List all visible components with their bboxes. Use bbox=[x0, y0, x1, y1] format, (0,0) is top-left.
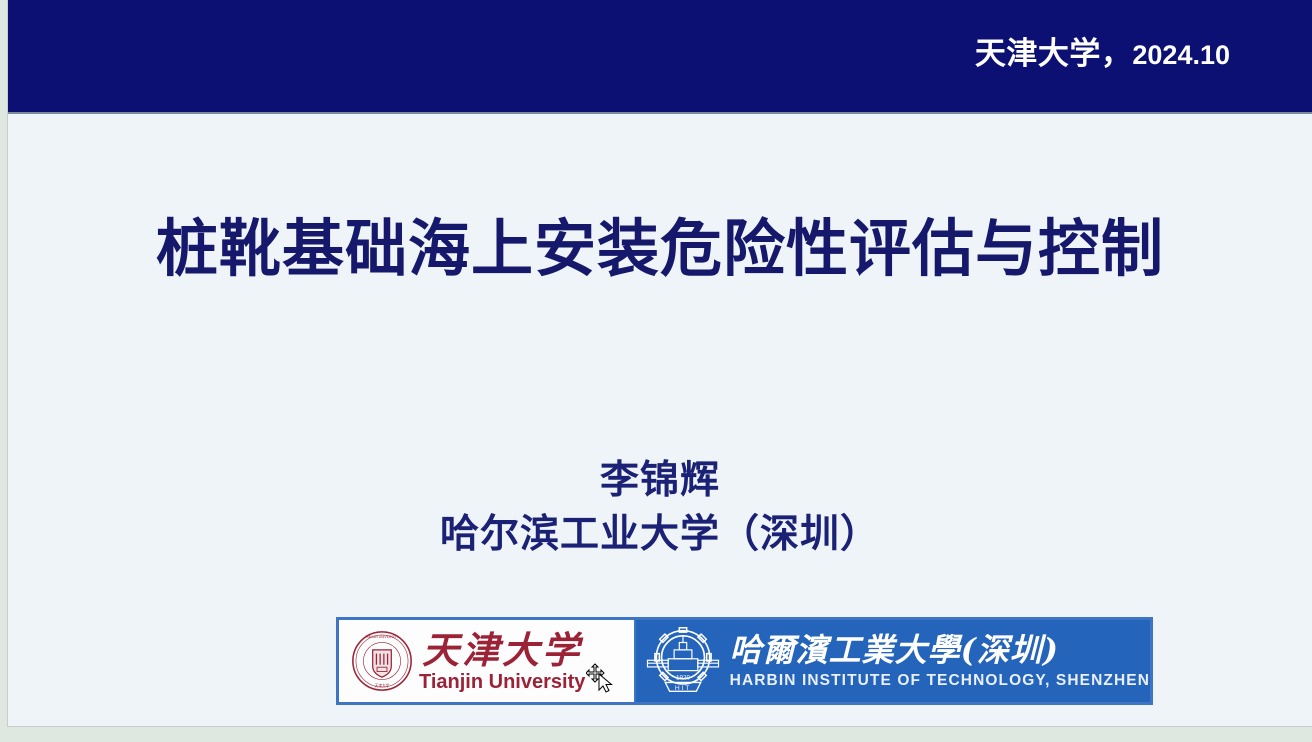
hit-shenzhen-name-en: HARBIN INSTITUTE OF TECHNOLOGY, SHENZHEN bbox=[730, 671, 1150, 691]
hit-shenzhen-wordmark: 哈爾濱工業大學(深圳) HARBIN INSTITUTE OF TECHNOLO… bbox=[730, 631, 1150, 691]
slide-title: 桩靴基础海上安装危险性评估与控制 bbox=[8, 207, 1312, 293]
hit-shenzhen-logo: 1920 HIT 哈爾濱工業大學(深圳) HARBIN INSTITUTE OF… bbox=[636, 620, 1150, 702]
tianjin-university-wordmark: 天津大学 Tianjin University bbox=[419, 629, 585, 693]
presenter-block: 李锦辉 哈尔滨工业大学（深圳） bbox=[8, 456, 1312, 562]
hit-emblem-year: 1920 bbox=[676, 675, 690, 682]
tianjin-university-name-en: Tianjin University bbox=[419, 671, 585, 693]
slide-header-band: 天津大学，2024.10 bbox=[8, 0, 1312, 114]
university-logo-banner[interactable]: TIANJIN UNIVERSITY 天津大学 天津大学 Tianjin Uni… bbox=[336, 617, 1153, 705]
presenter-name: 李锦辉 bbox=[8, 456, 1312, 506]
presenter-affiliation: 哈尔滨工业大学（深圳） bbox=[8, 508, 1312, 562]
header-venue-date: 天津大学，2024.10 bbox=[975, 34, 1230, 75]
header-date-label: 2024.10 bbox=[1132, 40, 1230, 70]
tianjin-university-name-cn: 天津大学 bbox=[422, 629, 582, 671]
hit-emblem-abbr: HIT bbox=[675, 685, 691, 692]
presentation-viewport: 天津大学，2024.10 桩靴基础海上安装危险性评估与控制 李锦辉 哈尔滨工业大… bbox=[0, 0, 1312, 742]
tianjin-university-seal-icon: TIANJIN UNIVERSITY 天津大学 bbox=[351, 630, 413, 692]
hit-shenzhen-name-cn: 哈爾濱工業大學(深圳) bbox=[730, 631, 1150, 669]
svg-text:天津大学: 天津大学 bbox=[375, 683, 390, 688]
hit-gear-emblem-icon: 1920 HIT bbox=[646, 623, 720, 699]
tianjin-university-logo: TIANJIN UNIVERSITY 天津大学 天津大学 Tianjin Uni… bbox=[339, 620, 636, 702]
slide-canvas[interactable]: 天津大学，2024.10 桩靴基础海上安装危险性评估与控制 李锦辉 哈尔滨工业大… bbox=[8, 0, 1312, 726]
svg-text:TIANJIN UNIVERSITY: TIANJIN UNIVERSITY bbox=[365, 635, 399, 639]
header-venue-label: 天津大学， bbox=[975, 36, 1133, 71]
